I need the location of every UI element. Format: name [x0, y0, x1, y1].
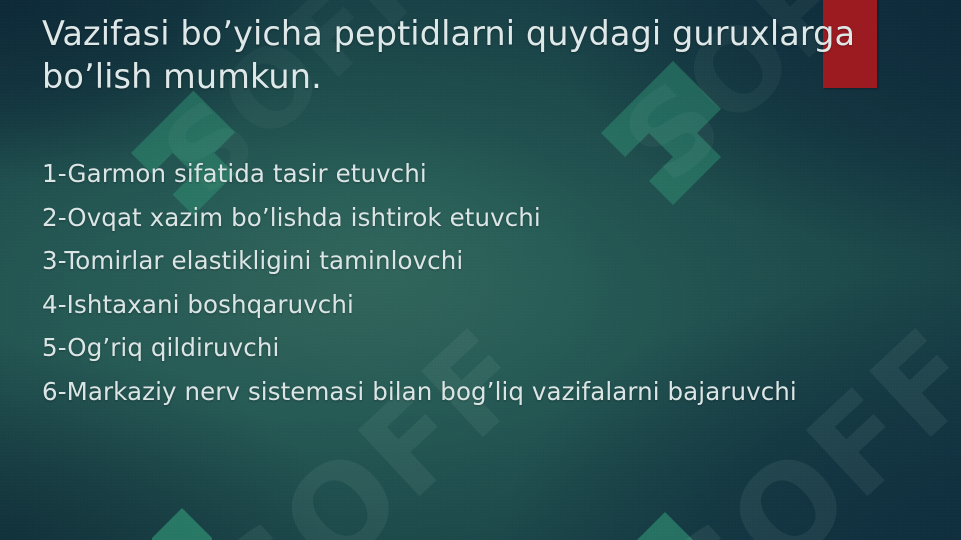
body-line-2: 2-Ovqat xazim bo’lishda ishtirok etuvchi: [42, 196, 932, 240]
body-line-5: 5-Og’riq qildiruvchi: [42, 326, 932, 370]
slide-title-line-2: bo’lish mumkun.: [42, 55, 922, 98]
slide-canvas: SOFF SOFF SOFF SOFF Vazifasi bo’yicha pe…: [0, 0, 961, 540]
body-line-4: 4-Ishtaxani boshqaruvchi: [42, 283, 932, 327]
body-line-1: 1-Garmon sifatida tasir etuvchi: [42, 152, 932, 196]
slide-title: Vazifasi bo’yicha peptidlarni quydagi gu…: [42, 12, 922, 98]
slide-title-line-1: Vazifasi bo’yicha peptidlarni quydagi gu…: [42, 12, 922, 55]
slide-body-list: 1-Garmon sifatida tasir etuvchi 2-Ovqat …: [42, 152, 932, 414]
body-line-3: 3-Tomirlar elastikligini taminlovchi: [42, 239, 932, 283]
body-line-6: 6-Markaziy nerv sistemasi bilan bog’liq …: [42, 370, 932, 414]
